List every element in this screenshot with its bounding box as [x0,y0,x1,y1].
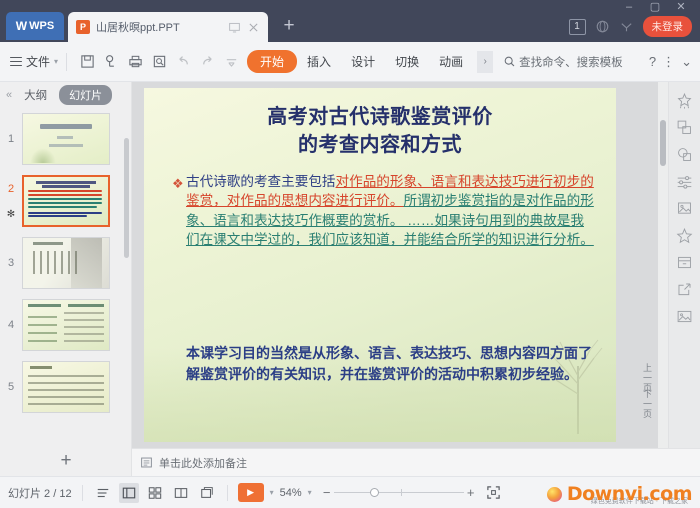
panel-tabs: « 大纲 幻灯片 [0,82,131,108]
slide-thumbnail-panel: « 大纲 幻灯片 1 2 ✻ [0,82,132,476]
divider [66,53,67,71]
save-icon[interactable] [75,50,99,74]
tab-insert[interactable]: 插入 [297,49,341,74]
thumbnail-number: 5 [0,381,22,393]
command-search[interactable]: 查找命令、搜索模板 [503,54,623,70]
print-preview-icon[interactable] [147,50,171,74]
divider [227,485,228,501]
help-icon[interactable]: ? [649,54,656,69]
tabs-more-icon[interactable]: › [477,51,493,73]
hamburger-icon [10,54,22,68]
thumbnail-scrollbar[interactable] [124,138,129,258]
close-tab-icon[interactable] [247,21,260,34]
thumbnail-number: 3 [0,257,22,269]
divider [82,485,83,501]
tab-slides[interactable]: 幻灯片 [59,85,112,105]
notes-pane[interactable]: 单击此处添加备注 [132,448,700,476]
wps-cloud-icon[interactable] [619,19,634,34]
tab-outline[interactable]: 大纲 [20,85,51,105]
file-menu-label: 文件 [26,53,50,70]
ribbon-tabs: 开始 插入 设计 切换 动画 › [247,49,493,74]
slide-sorter-icon[interactable] [145,483,165,503]
redo-icon[interactable] [195,50,219,74]
thumbnail-item-3[interactable]: 3 [0,232,132,294]
shapes-copy-icon[interactable] [676,119,693,136]
slide-counter: 幻灯片 2 / 12 [8,485,72,501]
notes-icon [140,456,153,469]
tab-count-badge[interactable]: 1 [569,19,586,35]
minimize-button[interactable]: – [616,0,642,14]
thumbnail-item-4[interactable]: 4 [0,294,132,356]
thumbnail-number: 2 ✻ [0,183,22,220]
overflow-menu-icon[interactable]: ⋮ [662,54,675,70]
notes-placeholder: 单击此处添加备注 [159,455,247,471]
thumbnail-list[interactable]: 1 2 ✻ [0,108,132,446]
canvas-scrollbar-thumb[interactable] [660,120,666,166]
slide-title-line-1: 高考对古代诗歌鉴赏评价 [144,104,616,132]
search-icon [503,55,516,68]
thumbnail-preview[interactable] [22,113,110,165]
thumbnail-preview[interactable] [22,361,110,413]
thumbnail-preview[interactable] [22,299,110,351]
current-slide[interactable]: 高考对古代诗歌鉴赏评价 的考查内容和方式 ❖ 古代诗歌的考查主要包括对作品的形象… [144,88,616,442]
present-monitor-icon[interactable] [228,21,241,34]
shape-circle-icon[interactable] [676,146,693,163]
titlebar-right-group: 1 未登录 [569,16,693,37]
title-bar: W WPS P 山居秋暝ppt.PPT + 1 [0,0,700,42]
image-icon[interactable] [676,308,693,325]
watermark-ball-icon [547,487,562,502]
tab-design[interactable]: 设计 [341,49,385,74]
ribbon-bar: 文件 ▾ 开始 插入 设计 切换 动画 › [0,42,700,82]
fit-to-window-icon[interactable] [486,485,502,501]
globe-icon[interactable] [595,19,610,34]
thumbnail-number: 4 [0,319,22,331]
tab-transitions[interactable]: 切换 [385,49,429,74]
chevron-down-icon: ▾ [54,57,58,66]
right-tool-rail [668,82,700,448]
close-window-button[interactable]: ✕ [668,0,694,14]
command-search-placeholder: 查找命令、搜索模板 [519,54,623,70]
thumbnail-preview[interactable] [22,237,110,289]
normal-view-icon[interactable] [119,483,139,503]
thumbnail-item-2[interactable]: 2 ✻ [0,170,132,232]
ppt-file-icon: P [76,20,90,34]
thumbnail-item-5[interactable]: 5 [0,356,132,418]
slide-body-paragraph-2[interactable]: 本课学习目的当然是从形象、语言、表达技巧、思想内容四方面了解鉴赏评价的有关知识，… [186,343,598,385]
wps-logo-label: WPS [29,20,54,32]
maximize-button[interactable]: ▢ [642,0,668,14]
zoom-out-button[interactable]: − [320,485,334,500]
watermark: Downvi.com [547,483,692,505]
animation-marker-icon: ✻ [0,209,22,220]
document-tab[interactable]: P 山居秋暝ppt.PPT [68,12,268,42]
login-status-button[interactable]: 未登录 [643,16,693,37]
slide-body-paragraph-1[interactable]: 古代诗歌的考查主要包括对作品的形象、语言和表达技巧进行初步的鉴赏，对作品的思想内… [186,172,596,249]
zoom-level-label[interactable]: 54% [280,487,302,499]
undo-icon[interactable] [171,50,195,74]
start-slideshow-button[interactable]: ▶ [238,483,264,502]
zoom-slider-track[interactable] [334,492,464,493]
zoom-slider-tick [401,489,402,496]
slide-canvas-area: 高考对古代诗歌鉴赏评价 的考查内容和方式 ❖ 古代诗歌的考查主要包括对作品的形象… [132,82,668,448]
ribbon-right-group: ? ⋮ ⌄ [649,54,692,70]
wps-logo-badge[interactable]: W WPS [6,12,64,40]
watermark-text: Downvi.com [567,483,692,505]
wps-mark-icon: W [16,19,26,33]
file-menu-button[interactable]: 文件 ▾ [10,53,58,70]
bullet-glyph-icon: ❖ [172,176,184,192]
slide-title-line-2: 的考查内容和方式 [144,132,616,160]
reading-view-icon[interactable] [171,483,191,503]
next-slide-button[interactable]: 下一页 [641,390,654,420]
zoom-in-button[interactable]: + [464,485,478,500]
adjust-sliders-icon[interactable] [676,173,693,190]
wps-presentation-window: W WPS P 山居秋暝ppt.PPT + 1 [0,0,700,508]
zoom-options-caret-icon[interactable]: ▾ [308,488,312,497]
canvas-vertical-scrollbar[interactable] [658,82,668,448]
collapse-panel-icon[interactable]: « [6,89,12,101]
quick-access-more-icon[interactable] [219,50,243,74]
slideshow-options-caret-icon[interactable]: ▾ [270,488,274,497]
sparkle-star-icon[interactable] [676,92,693,109]
thumbnail-number: 1 [0,133,22,145]
zoom-slider[interactable]: − + [320,485,478,500]
cloud-sync-icon[interactable] [99,50,123,74]
thumbnail-preview[interactable] [22,175,110,227]
add-slide-button[interactable]: + [0,446,132,476]
picture-frame-icon[interactable] [676,200,693,217]
document-tab-title: 山居秋暝ppt.PPT [96,19,222,35]
print-icon[interactable] [123,50,147,74]
thumbnail-item-1[interactable]: 1 [0,108,132,170]
archive-box-icon[interactable] [676,254,693,271]
new-tab-button[interactable]: + [278,16,300,38]
outline-view-icon[interactable] [93,483,113,503]
star-icon[interactable] [676,227,693,244]
collapse-ribbon-icon[interactable]: ⌄ [681,54,692,70]
slide-title[interactable]: 高考对古代诗歌鉴赏评价 的考查内容和方式 [144,104,616,159]
notes-view-icon[interactable] [197,483,217,503]
tab-home[interactable]: 开始 [247,50,297,73]
zoom-slider-handle[interactable] [370,488,379,497]
window-controls: – ▢ ✕ [616,0,694,14]
share-export-icon[interactable] [676,281,693,298]
body-plain-text: 古代诗歌的考查主要包括 [186,174,336,189]
tab-animations[interactable]: 动画 [429,49,473,74]
